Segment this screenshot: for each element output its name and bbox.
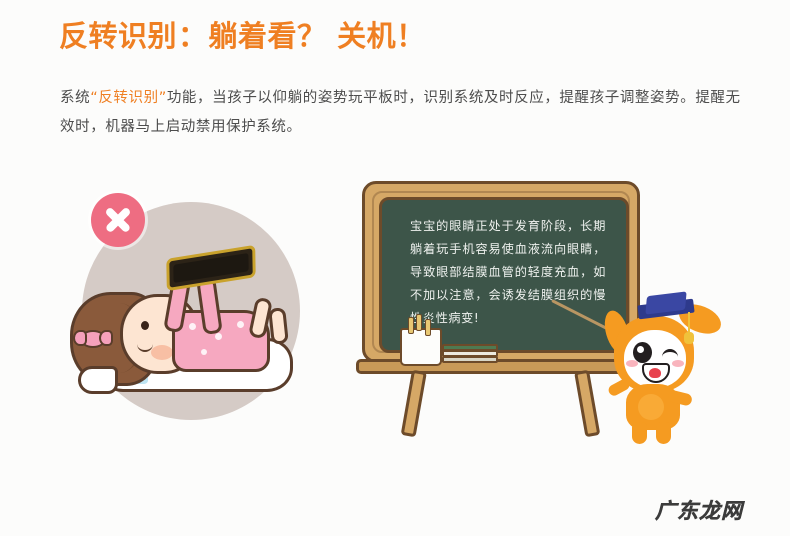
mascot-blush (672, 360, 684, 367)
tablet-screen (173, 253, 248, 283)
easel-leg-right (574, 370, 600, 438)
book (442, 356, 498, 363)
graduation-cap-tassel (688, 312, 690, 334)
dress-dot (215, 333, 222, 340)
mascot-leg-left (632, 422, 647, 444)
girl-leg (268, 307, 289, 345)
page-title-main: 反转识别 (59, 19, 177, 53)
mascot-face (624, 330, 686, 388)
pencil (408, 317, 414, 334)
bad-posture-illustration (60, 170, 350, 440)
mascot-leg-right (656, 422, 671, 444)
pencil (416, 314, 422, 331)
dress-dot (189, 323, 196, 330)
page-title: 反转识别：躺着看？ 关机！ (59, 18, 426, 54)
mascot-eye-open (633, 342, 652, 363)
pencil-cup (400, 328, 442, 366)
book-stack (442, 344, 498, 363)
watermark: 广东龙网 (655, 495, 743, 525)
dress-dot (201, 349, 207, 355)
easel-leg-left (401, 370, 427, 438)
mascot-eye-wink (662, 349, 678, 361)
girl-eye (141, 321, 149, 330)
page-title-colon: ： (178, 19, 208, 53)
girl-cheek (151, 345, 173, 360)
mascot-tongue (649, 368, 661, 378)
fox-student-mascot (600, 300, 730, 450)
pencil (425, 319, 431, 336)
hair-bow (80, 330, 106, 348)
page-root: 反转识别：躺着看？ 关机！ 系统“反转识别”功能，当孩子以仰躺的姿势玩平板时，识… (0, 0, 790, 536)
girl-legs (250, 298, 292, 340)
paragraph-quoted-feature: “反转识别” (90, 90, 167, 106)
dress-dot (237, 321, 244, 328)
mascot-belly (638, 394, 664, 420)
x-mark-icon (91, 193, 145, 247)
page-title-rest: 躺着看？ 关机！ (209, 19, 426, 53)
girl-foot (78, 366, 118, 394)
intro-paragraph: 系统“反转识别”功能，当孩子以仰躺的姿势玩平板时，识别系统及时反应，提醒孩子调整… (60, 84, 750, 142)
paragraph-before-quote: 系统 (60, 90, 90, 106)
mascot-mouth (642, 363, 670, 383)
